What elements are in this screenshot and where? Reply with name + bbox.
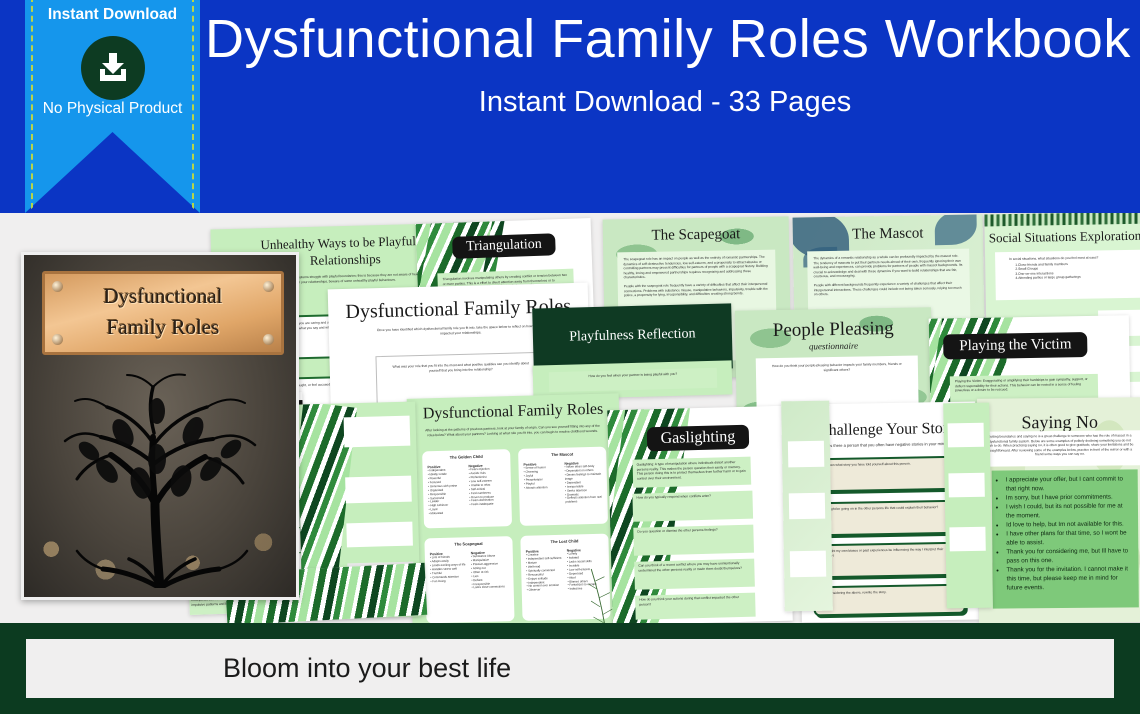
page-subtitle: Instant Download - 33 Pages: [205, 84, 1125, 120]
page-mascot-p2: People with different backgrounds freque…: [808, 277, 970, 298]
page-social-situations-title: Social Situations Exploration: [989, 228, 1140, 247]
saying-no-examples-list: I appreciate your offer, but I cant comm…: [992, 469, 1139, 608]
page-extra-right[interactable]: [943, 403, 993, 609]
page-playfulness-reflection-title: Playfulness Reflection: [533, 325, 732, 346]
page-title: Dysfunctional Family Roles Workbook: [205, 8, 1125, 70]
download-icon: [81, 36, 145, 100]
list-item: Thank you for the invitation. I cannot m…: [1006, 564, 1132, 592]
gaslighting-prompt-3[interactable]: Can you think of a recent conflict where…: [634, 559, 755, 590]
ribbon-top-label: Instant Download: [25, 6, 200, 24]
playfulness-prompt-box: How do you feel when your partner is bei…: [549, 368, 717, 392]
page-challenge-story-subtitle: Is there a person that you often have ne…: [829, 442, 949, 449]
page-gaslighting[interactable]: Gaslighting Gaslighting: A type of manip…: [607, 406, 793, 623]
list-item: I wish I could, but its not possible for…: [1006, 501, 1132, 520]
product-listing-image: Instant Download No Physical Product Dys…: [0, 0, 1140, 714]
page-gaslighting-title: Gaslighting: [646, 425, 749, 452]
gaslighting-prompt-2[interactable]: Do you question or dismiss the other per…: [633, 525, 754, 556]
header-banner: Instant Download No Physical Product Dys…: [0, 0, 1140, 213]
footer-inner-panel: Bloom into your best life: [26, 639, 1114, 698]
page-playing-victim-title: Playing the Victim: [943, 332, 1088, 360]
playing-victim-body: Playing the Victim: Exaggerating or ampl…: [950, 374, 1098, 396]
role-card-golden-child: The Golden Child Positive • Independent•…: [422, 449, 512, 528]
gaslighting-body: Gaslighting: A type of manipulation wher…: [633, 457, 752, 484]
page-scapegoat-title: The Scapegoat: [603, 225, 789, 245]
ribbon-bottom-label: No Physical Product: [25, 100, 200, 118]
cover-title-line2: Family Roles: [45, 312, 281, 343]
book-cover[interactable]: Dysfunctional Family Roles: [21, 252, 299, 600]
challenge-story-prompt-4[interactable]: After considering the above, rewrite the…: [813, 584, 966, 617]
page-mascot-p1: The dynamics of a romantic relationship …: [807, 249, 969, 280]
dfr-prompt-text: What was your role that you fit into the…: [376, 353, 545, 383]
footer-banner: Bloom into your best life: [0, 623, 1140, 714]
challenge-story-prompt-1[interactable]: Write down what story you have told your…: [811, 456, 964, 493]
tree-of-life-icon: [45, 363, 275, 588]
page-extra-mid[interactable]: [781, 401, 833, 612]
page-scapegoat-p2: People with the scapegoat role frequentl…: [618, 278, 776, 299]
challenge-story-prompt-2[interactable]: What might be going on in the other pers…: [812, 500, 965, 537]
role-card-scapegoat: The Scapegoat Positive • Lots of friends…: [424, 536, 514, 623]
footer-tagline: Bloom into your best life: [223, 653, 511, 684]
people-pleasing-prompt-text: How do you think your people-pleasing be…: [756, 356, 918, 380]
page-dfr-roles-chart[interactable]: Dysfunctional Family Roles After looking…: [407, 393, 626, 623]
gaslighting-prompt-1[interactable]: How do you typically respond when confli…: [632, 491, 753, 522]
challenge-story-prompt-3[interactable]: How might my own biases or past experien…: [813, 542, 966, 579]
instant-download-ribbon: Instant Download No Physical Product: [25, 0, 200, 213]
list-item: Thank you for considering me, but Ill ha…: [1006, 546, 1132, 565]
page-saying-no[interactable]: Saying No Setting boundaries and saying …: [977, 397, 1140, 623]
page-dfr-roles-chart-body: After looking at the patterns of previou…: [423, 424, 601, 438]
list-item: I appreciate your offer, but I cant comm…: [1006, 474, 1132, 493]
saying-no-intro-box: Setting boundaries and saying no is a gr…: [977, 430, 1140, 466]
page-people-pleasing-subtitle: questionnaire: [735, 339, 931, 352]
cover-plaque: Dysfunctional Family Roles: [42, 271, 284, 355]
page-saying-no-body: Setting boundaries and saying no is a gr…: [977, 430, 1140, 460]
playfulness-prompt-text: How do you feel when your partner is bei…: [549, 368, 717, 383]
page-triangulation-title: Triangulation: [452, 233, 556, 259]
lace-border-decoration: [984, 213, 1140, 226]
list-item: I have other plans for that time, so I w…: [1006, 528, 1132, 547]
gaslighting-prompt-4[interactable]: How do you think your actions during tha…: [635, 593, 756, 620]
gaslighting-body-box: Gaslighting: A type of manipulation wher…: [633, 457, 752, 488]
role-card-mascot: The Mascot Positive • Sense of humor• Ch…: [518, 447, 608, 526]
page-scapegoat-p1: The scapegoat role has an impact on peop…: [617, 250, 775, 281]
page-dfr-roles-chart-title: Dysfunctional Family Roles: [407, 400, 619, 424]
cover-title-line1: Dysfunctional: [45, 281, 281, 312]
page-mascot-title: The Mascot: [793, 224, 983, 244]
page-social-situations-box: In social situations, what situations do…: [995, 250, 1140, 301]
page-dfr-reflect-body: Once you have identified which dysfuncti…: [371, 324, 551, 338]
